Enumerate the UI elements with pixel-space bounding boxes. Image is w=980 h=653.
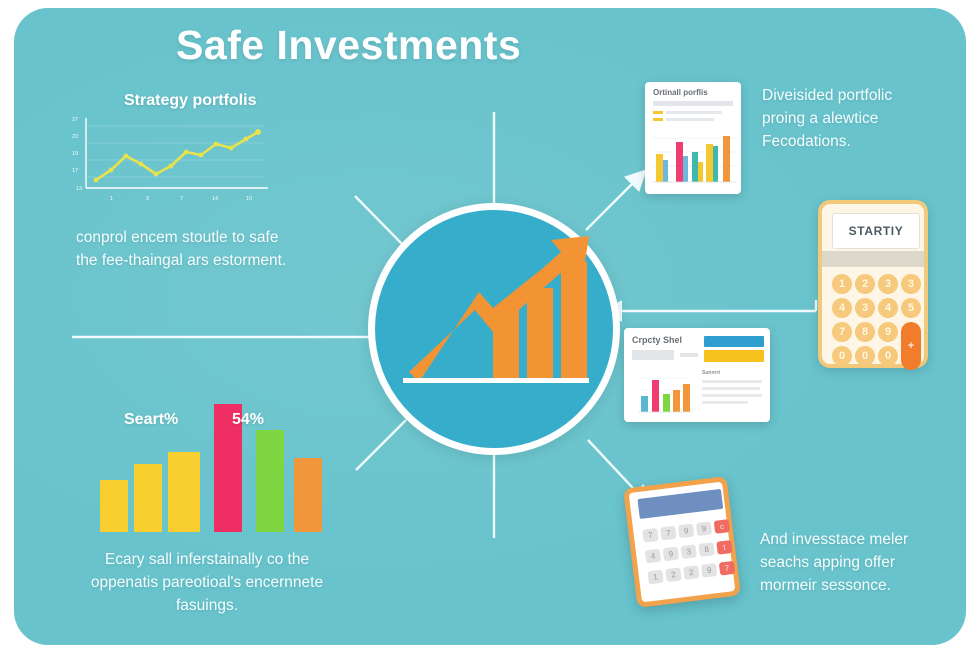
- calc-key[interactable]: 4: [645, 549, 661, 564]
- text-line: [702, 401, 748, 404]
- card-top-right-caption: Diveisided portfolic proing a alewtice F…: [762, 84, 932, 153]
- calc-key[interactable]: 4: [878, 298, 898, 318]
- svg-text:10: 10: [246, 196, 252, 202]
- svg-text:3: 3: [146, 196, 149, 202]
- calculator-right[interactable]: STARTIY 1 2 3 3 4 3 4 5 7 8 9 0 0 0 +: [818, 200, 928, 368]
- calculator-bottom-display: [637, 489, 723, 519]
- legend-swatch-2: [653, 118, 663, 121]
- calc-key[interactable]: 7: [832, 322, 852, 342]
- line-chart-caption: conprol encem stoutle to safe the fee-th…: [76, 226, 326, 272]
- calc-key[interactable]: 3: [901, 274, 921, 294]
- card-top-right-title: Ortinall porflis: [653, 88, 708, 97]
- svg-text:27: 27: [72, 117, 78, 123]
- infographic-canvas: Safe Investments Strategy portfolis: [0, 0, 980, 653]
- card-top-right[interactable]: Ortinall porflis: [645, 82, 741, 194]
- svg-text:14: 14: [212, 196, 218, 202]
- line-chart: 2722 191713 137 1410: [64, 112, 274, 202]
- calc-action-key[interactable]: +: [901, 322, 921, 370]
- card-divider: [653, 101, 733, 106]
- text-line: [702, 387, 760, 390]
- calc-key-red[interactable]: 7: [719, 561, 735, 576]
- svg-text:1: 1: [110, 196, 113, 202]
- bar-label-left: Seart%: [124, 411, 178, 429]
- card-mid-right-title: Crpcty Shel: [632, 335, 682, 345]
- calculator-display: STARTIY: [832, 213, 920, 249]
- calc-key[interactable]: 3: [878, 274, 898, 294]
- bottom-bars-caption: Ecary sall inferstainally co the oppenat…: [64, 548, 350, 617]
- bottom-right-caption: And invesstace meler seachs apping offer…: [760, 528, 940, 597]
- calc-key[interactable]: 9: [878, 322, 898, 342]
- calc-key[interactable]: 2: [665, 567, 681, 582]
- calc-key[interactable]: 9: [678, 524, 694, 539]
- growth-chart-icon: [375, 210, 613, 448]
- svg-text:13: 13: [76, 186, 82, 192]
- card-mid-right-chart: [628, 368, 694, 420]
- calc-key[interactable]: 9: [701, 563, 717, 578]
- page-title: Safe Investments: [176, 22, 696, 69]
- svg-text:22: 22: [72, 134, 78, 140]
- calculator-band: [822, 251, 924, 267]
- card-section-label: Sunnrrt: [702, 370, 720, 376]
- calc-key[interactable]: 7: [642, 528, 658, 543]
- banner-primary: [704, 336, 764, 347]
- text-line: [702, 394, 762, 397]
- svg-text:17: 17: [72, 168, 78, 174]
- legend-swatch-1: [653, 111, 663, 114]
- bar-label-right: 54%: [232, 411, 264, 429]
- calc-key[interactable]: 8: [698, 542, 714, 557]
- bar-2: [134, 464, 162, 532]
- calc-key[interactable]: 1: [832, 274, 852, 294]
- field-placeholder: [632, 350, 674, 360]
- calc-key[interactable]: 0: [878, 346, 898, 366]
- calc-key[interactable]: 8: [855, 322, 875, 342]
- svg-text:7: 7: [180, 196, 183, 202]
- central-hub: [368, 203, 620, 455]
- bar-5: [256, 430, 284, 532]
- svg-text:19: 19: [72, 151, 78, 157]
- calc-key[interactable]: 0: [855, 346, 875, 366]
- calculator-bottom[interactable]: 7 7 9 9 c 4 9 3 8 t 1 2 2 9 7: [623, 476, 741, 608]
- calc-key[interactable]: 3: [681, 544, 697, 559]
- bar-1: [100, 480, 128, 532]
- bar-3: [168, 452, 200, 532]
- calc-key[interactable]: 9: [696, 521, 712, 536]
- calc-key[interactable]: 9: [663, 547, 679, 562]
- calc-key-red[interactable]: t: [716, 540, 732, 555]
- card-mid-right[interactable]: Crpcty Shel Sunnrrt: [624, 328, 770, 422]
- text-line: [702, 380, 762, 383]
- calc-key[interactable]: 0: [832, 346, 852, 366]
- calc-key-red[interactable]: c: [714, 519, 730, 534]
- line-chart-title: Strategy portfolis: [124, 92, 404, 110]
- field-divider: [680, 353, 698, 357]
- legend-line-1: [666, 111, 722, 114]
- card-top-right-chart: [645, 126, 741, 192]
- calc-key[interactable]: 1: [647, 570, 663, 585]
- calc-key[interactable]: 4: [832, 298, 852, 318]
- legend-line-2: [666, 118, 714, 121]
- calc-key[interactable]: 2: [683, 565, 699, 580]
- calc-key[interactable]: 5: [901, 298, 921, 318]
- banner-secondary: [704, 350, 764, 362]
- calc-key[interactable]: 2: [855, 274, 875, 294]
- calc-key[interactable]: 3: [855, 298, 875, 318]
- bar-6: [294, 458, 322, 532]
- calc-key[interactable]: 7: [660, 526, 676, 541]
